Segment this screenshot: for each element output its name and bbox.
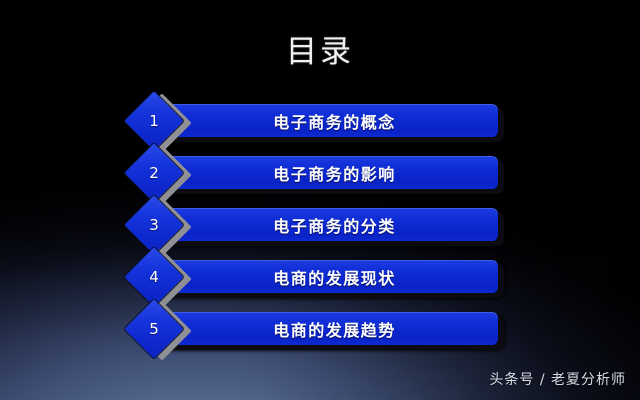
list-item[interactable]: 电子商务的分类 3 bbox=[0, 200, 640, 252]
contents-list: 电子商务的概念 1 电子商务的影响 2 电子商务的分类 3 电商的发展现状 bbox=[0, 0, 640, 400]
list-item[interactable]: 电商的发展趋势 5 bbox=[0, 304, 640, 356]
list-item[interactable]: 电子商务的影响 2 bbox=[0, 148, 640, 200]
item-number: 1 bbox=[133, 100, 175, 142]
item-number: 3 bbox=[133, 204, 175, 246]
content-bar-label: 电商的发展现状 bbox=[157, 260, 498, 293]
watermark-text: 头条号 / 老夏分析师 bbox=[489, 369, 626, 389]
item-number: 4 bbox=[133, 256, 175, 298]
item-number: 2 bbox=[133, 152, 175, 194]
item-number: 5 bbox=[133, 308, 175, 350]
presentation-slide: 目录 电子商务的概念 1 电子商务的影响 2 电子商务的分类 3 bbox=[0, 0, 640, 400]
list-item[interactable]: 电商的发展现状 4 bbox=[0, 252, 640, 304]
list-item[interactable]: 电子商务的概念 1 bbox=[0, 96, 640, 148]
content-bar-label: 电子商务的概念 bbox=[157, 104, 498, 137]
content-bar-label: 电商的发展趋势 bbox=[157, 312, 498, 345]
content-bar-label: 电子商务的分类 bbox=[157, 208, 498, 241]
content-bar-label: 电子商务的影响 bbox=[157, 156, 498, 189]
